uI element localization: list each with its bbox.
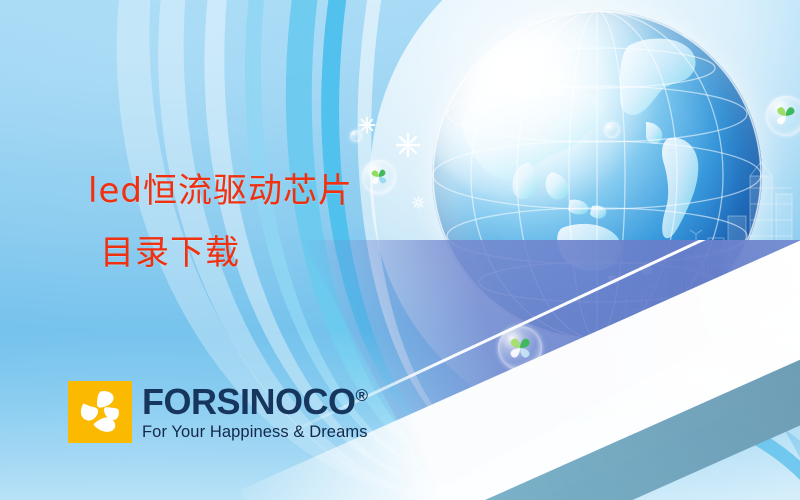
logo-text-block: FORSINOCO® For Your Happiness & Dreams: [142, 383, 368, 442]
green-pinwheel-icon-3: [773, 103, 799, 129]
headline-block: led恒流驱动芯片 目录下载: [88, 160, 508, 284]
headline-line-2: 目录下载: [88, 222, 508, 284]
sparkle-flower-icon-1: [395, 132, 421, 158]
swoosh-pale-curve: [316, 280, 800, 500]
swoosh-arc-cyan: [348, 324, 800, 500]
swoosh-arc-pale: [328, 278, 800, 500]
logo-wordmark-text: FORSINOCO: [142, 381, 356, 422]
bubble-3: [766, 96, 800, 136]
registered-trademark-icon: ®: [356, 386, 368, 405]
logo-wordmark: FORSINOCO®: [142, 383, 368, 421]
green-pinwheel-icon-2: [506, 334, 534, 362]
company-logo: FORSINOCO® For Your Happiness & Dreams: [68, 381, 368, 443]
city-skyline-icon: [600, 160, 800, 330]
bubble-2: [498, 326, 542, 370]
bubble-4: [350, 130, 362, 142]
headline-line-1: led恒流驱动芯片: [88, 160, 508, 222]
logo-tagline: For Your Happiness & Dreams: [142, 422, 368, 442]
four-petal-flower-icon: [68, 381, 132, 443]
promo-banner: led恒流驱动芯片 目录下载 FORSINOCO® For Your Happi…: [0, 0, 800, 500]
bubble-5: [604, 122, 620, 138]
